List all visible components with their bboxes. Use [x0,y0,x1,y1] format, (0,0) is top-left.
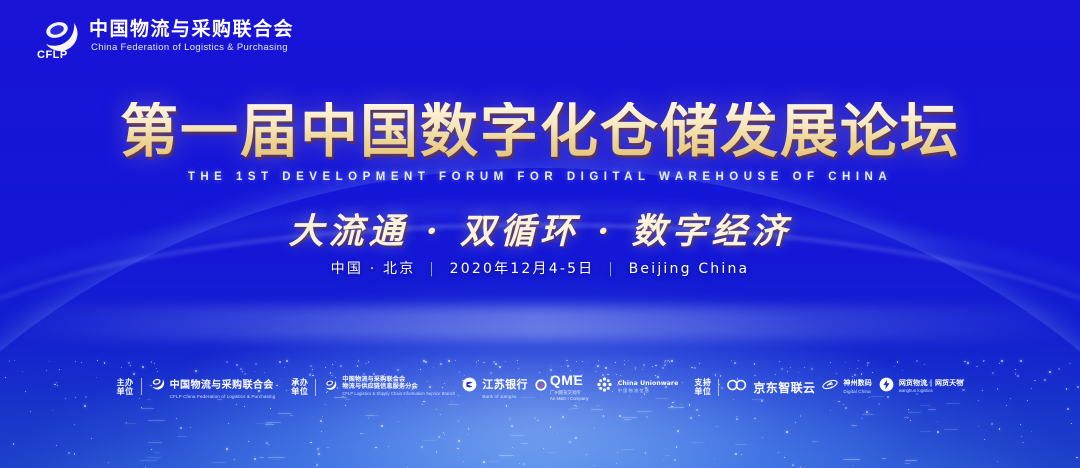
sponsor-name-cn: 江苏银行 [482,378,528,391]
sponsor-logo-cflp-branch: 中国物流与采购联合会 物流与供应链信息服务分会 CFLP Logistics &… [323,377,455,397]
snowflake-icon [596,376,613,398]
qme-ring-icon [535,378,547,396]
dateline-separator-1: | [429,261,436,277]
lightning-icon [879,377,894,397]
cflp-name-en: China Federation of Logistics & Purchasi… [89,43,294,53]
dateline-location-cn: 中国 · 北京 [331,261,416,277]
cflp-name-cn: 中国物流与采购联合会 [89,20,294,39]
sponsor-name-cn-2: 物流与供应链信息服务分会 [342,384,455,391]
sponsor-group-supporter: 支持 单位 京东智联云 [694,377,963,397]
sponsor-logo-wanghuo: 网货物流 | 网货天物 wanghuo logistics [879,377,964,397]
sponsor-name-cn: China Unionware [618,381,679,388]
sponsor-sub-en: An M&E-I Company [550,396,589,402]
dateline-location-en: Beijing China [629,261,750,277]
tag-line-2: 单位 [694,387,711,396]
divider [315,379,316,396]
sponsor-group-tag: 主办 单位 [117,378,134,396]
title-subtitle-en: THE 1ST DEVELOPMENT FORUM FOR DIGITAL WA… [0,171,1080,183]
sponsor-name-cn: 中国物流与采购联合会 [170,380,274,391]
tag-line-1: 主办 [117,378,134,387]
divider [718,379,719,396]
sponsor-name-en: 中 国 物 流 信 息 [618,389,679,394]
sponsor-group-organizer: 主办 单位 中国物流与采购联合会 CFLP China Federation o… [117,375,276,399]
sponsor-logo-bank-of-jiangsu: 江苏银行 Bank of Jiangsu [462,375,528,399]
tag-line-1: 承办 [291,378,308,387]
sponsor-name-en: Bank of Jiangsu [482,394,528,399]
sponsor-name-word: QME [550,372,583,388]
sponsor-name-en: Digital China [843,389,871,394]
sponsor-group-tag: 支持 单位 [694,378,711,396]
sponsor-name-cn: 京东智联云 [753,379,815,396]
jd-infinity-icon [726,378,748,397]
title-block: 第一届中国数字化仓储发展论坛 THE 1ST DEVELOPMENT FORUM… [0,102,1080,183]
conference-poster: CFLP 中国物流与采购联合会 China Federation of Logi… [0,0,1080,468]
dateline: 中国 · 北京 | 2020年12月4-5日 | Beijing China [0,258,1080,278]
tag-line-2: 单位 [291,387,308,396]
tag-line-2: 单位 [117,387,134,396]
divider [141,378,142,395]
sponsor-logo-jd-cloud: 京东智联云 [726,378,815,397]
dateline-separator-2: | [608,261,615,277]
cflp-abbr: CFLP [37,49,68,61]
cflp-globe-icon [323,378,337,397]
page-title: 第一届中国数字化仓储发展论坛 [120,102,960,160]
sponsor-bar: 主办 单位 中国物流与采购联合会 CFLP China Federation o… [0,372,1080,402]
tag-line-1: 支持 [694,378,711,387]
bank-swirl-icon [462,377,477,397]
sponsor-logo-china-unionware: China Unionware 中 国 物 流 信 息 [596,376,679,398]
sponsor-name-en: CFLP China Federation of Logistics & Pur… [170,394,276,399]
sponsor-logo-qme: QME 广州期货交易所 An M&E-I Company [535,372,589,401]
sponsor-name-en: wanghuo logistics [899,389,964,394]
sponsor-name-cn: 网货物流 | 网货天物 [899,380,964,388]
sponsor-logo-digital-china: 神州数码 Digital China [822,378,871,396]
cflp-globe-icon [149,376,165,397]
cflp-header-logo: CFLP 中国物流与采购联合会 China Federation of Logi… [36,14,294,58]
sponsor-group-tag: 承办 单位 [291,378,308,396]
digital-china-icon [822,378,838,396]
sponsor-logo-cflp: 中国物流与采购联合会 CFLP China Federation of Logi… [149,375,276,399]
slogan: 大流通 · 双循环 · 数字经济 [0,203,1080,254]
cflp-globe-icon: CFLP [36,14,80,58]
sponsor-name-en: CFLP Logistics & Supply Chain Informatio… [342,392,455,397]
sponsor-name-cn: 神州数码 [843,380,871,388]
dateline-date: 2020年12月4-5日 [450,261,595,277]
sponsor-group-host: 承办 单位 中国物流与采购联合会 物流与供应链信息服务分会 CFLP Logis… [291,372,678,401]
